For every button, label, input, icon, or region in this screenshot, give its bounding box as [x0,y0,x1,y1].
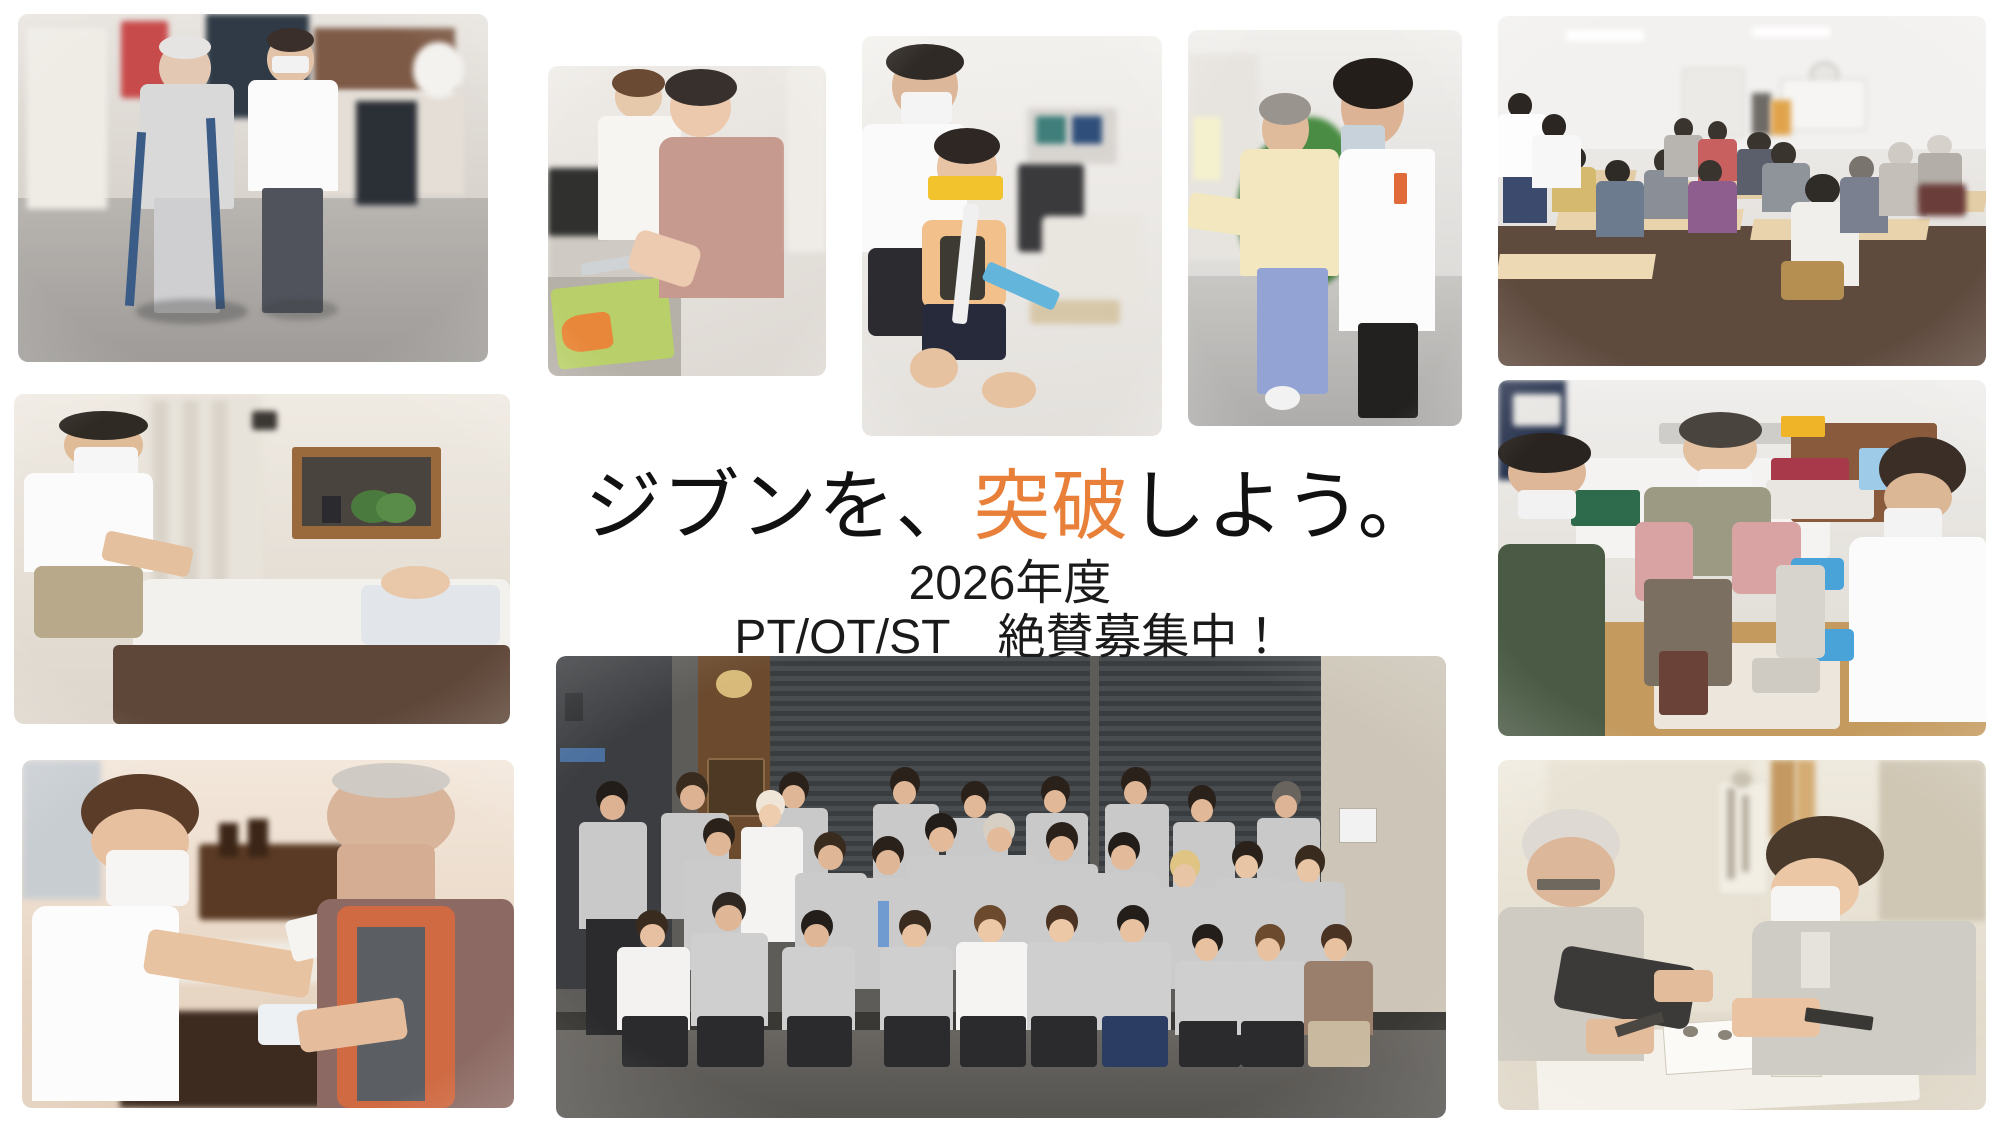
photo-swallowing-feeding-evaluation: 摂食嚥下評価 [22,760,514,1108]
recruitment-poster: 屋外歩行訓練 調理動作訓練 [0,0,2000,1125]
headline-part1: ジブンを、 [585,464,974,550]
photo-caption: 屋内立位・バランス訓練 [1188,404,1462,420]
photo-group-class-lecture: 集団教室・講座 [1498,16,1986,366]
photo-caption: 小児呼吸リハ [862,414,1162,430]
photo-caption: 調理動作訓練 [548,354,826,370]
photo-outdoor-gait-training: 屋外歩行訓練 [18,14,488,362]
photo-home-visit-orthosis-fitting: 訪問リハビリ（装具調整） [1498,380,1986,736]
photo-caption: 認知・机上課題訓練 [1498,1088,1986,1104]
photo-caption: 屋外歩行訓練 [18,340,488,356]
photo-caption: 集団教室・講座 [1498,344,1986,360]
subtitle-year: 2026年度 [560,557,1460,611]
photo-staff-group-photo: スタッフ集合写真 [556,656,1446,1118]
photo-kitchen-adl-training: 調理動作訓練 [548,66,826,376]
subtitle-roles: PT/OT/ST 絶賛募集中！ [560,611,1460,665]
headline-part2: しよう。 [1129,464,1435,550]
photo-caption: 訪問リハビリ（装具調整） [1498,714,1986,730]
headline-block: ジブンを、突破しよう。 2026年度 PT/OT/ST 絶賛募集中！ [560,468,1460,665]
photo-cognitive-rehab-tabletop: 認知・机上課題訓練 [1498,760,1986,1110]
photo-caption: 訪問リハビリ（ベッドサイド） [14,702,510,718]
photo-indoor-balance-training: 屋内立位・バランス訓練 [1188,30,1462,426]
photo-caption: 摂食嚥下評価 [22,1086,514,1102]
headline: ジブンを、突破しよう。 [560,468,1460,547]
photo-pediatric-respiratory-therapy: 小児呼吸リハ [862,36,1162,436]
photo-caption: スタッフ集合写真 [556,1096,1446,1112]
headline-accent: 突破 [973,464,1129,550]
photo-home-visit-bed-rehab: 訪問リハビリ（ベッドサイド） [14,394,510,724]
